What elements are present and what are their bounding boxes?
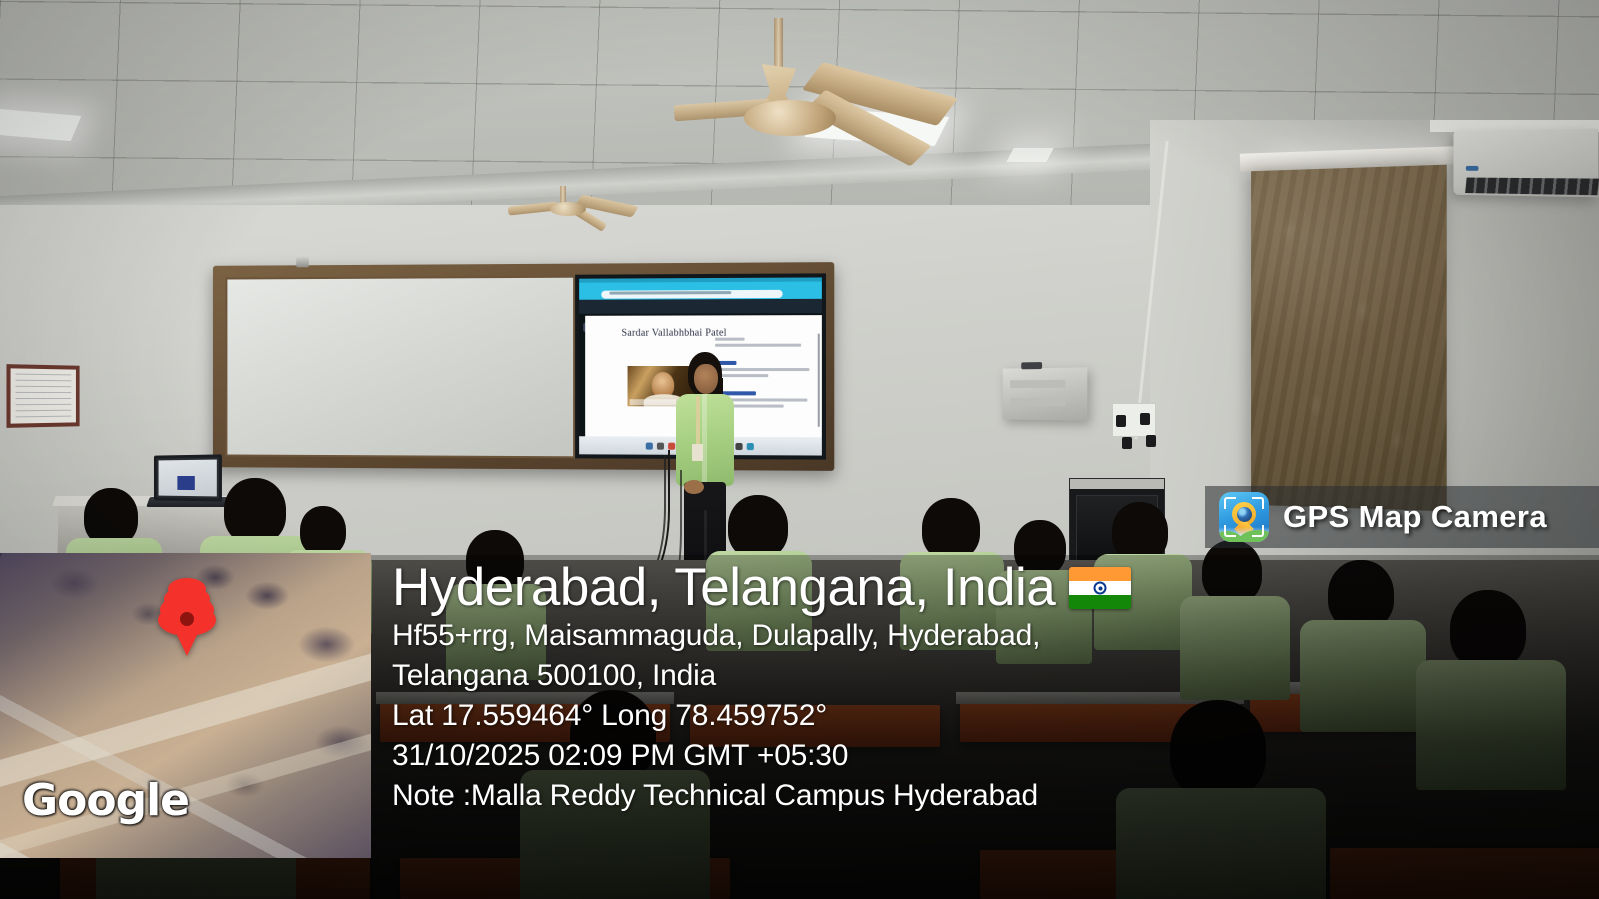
taskbar-icon[interactable] [747,442,754,449]
scrollbar[interactable] [818,333,820,427]
focus-bracket-icon [1252,525,1264,537]
fan-hub [550,202,586,216]
timestamp-line: 31/10/2025 02:09 PM GMT +05:30 [392,736,1592,776]
presenter-shirt [676,394,734,486]
doc-line [715,344,802,347]
plug [1146,435,1156,447]
note-line: Note :Malla Reddy Technical Campus Hyder… [392,776,1592,816]
coordinates-line: Lat 17.559464° Long 78.459752° [392,696,1592,736]
plug [1122,437,1132,449]
gps-map-camera-watermark: GPS Map Camera [1205,486,1599,548]
taskbar-icon[interactable] [657,442,664,449]
equipment-lid [1021,362,1042,369]
window-curtain [1251,165,1447,512]
ashoka-chakra-icon [1094,582,1107,595]
focus-bracket-icon [1224,525,1236,537]
address-line-2: Telangana 500100, India [392,656,1592,696]
ac-vent [1465,178,1599,196]
fan-hub [744,100,836,136]
pin-center-dot [180,612,194,626]
screenshot-root: Sardar Vallabhbhai Patel [0,0,1599,899]
location-heading-text: Hyderabad, Telangana, India [392,560,1055,616]
india-flag-icon [1069,567,1131,609]
wall-mounted-equipment [1003,367,1088,420]
ceiling-fan [700,18,950,148]
focus-bracket-icon [1252,497,1264,509]
google-watermark: Google [22,775,189,826]
ceiling-light-panel [1006,148,1053,162]
gps-info-overlay: Hyderabad, Telangana, India Hf55+rrg, Ma… [392,560,1592,816]
doc-line [715,338,744,341]
wall-notice-frame [6,364,79,428]
app-title: GPS Map Camera [1283,499,1547,535]
presenter-face [694,364,718,394]
location-heading: Hyderabad, Telangana, India [392,560,1592,616]
plug [1116,415,1126,427]
ceiling-fan-distant [520,186,630,234]
id-badge [692,444,703,461]
student-desk [1330,848,1599,899]
presenter-hands [684,480,704,494]
air-conditioner [1453,129,1598,198]
ac-indicator-icon [1466,166,1479,171]
taskbar-icon[interactable] [646,442,653,449]
focus-bracket-icon [1224,497,1236,509]
board-sensor-icon [296,255,309,267]
plug [1140,413,1150,425]
laptop-screen [154,454,222,501]
document-toolbar [579,299,822,314]
lanyard [696,396,700,448]
url-text [609,291,731,295]
browser-url-bar [579,282,822,300]
gps-map-camera-logo-icon [1219,492,1269,542]
camera-lens-icon [1237,507,1252,522]
map-pin-icon [158,578,216,656]
document-title: Sardar Vallabhbhai Patel [621,328,726,339]
address-line-1: Hf55+rrg, Maisammaguda, Dulapally, Hyder… [392,616,1592,656]
whiteboard-surface [225,276,575,459]
